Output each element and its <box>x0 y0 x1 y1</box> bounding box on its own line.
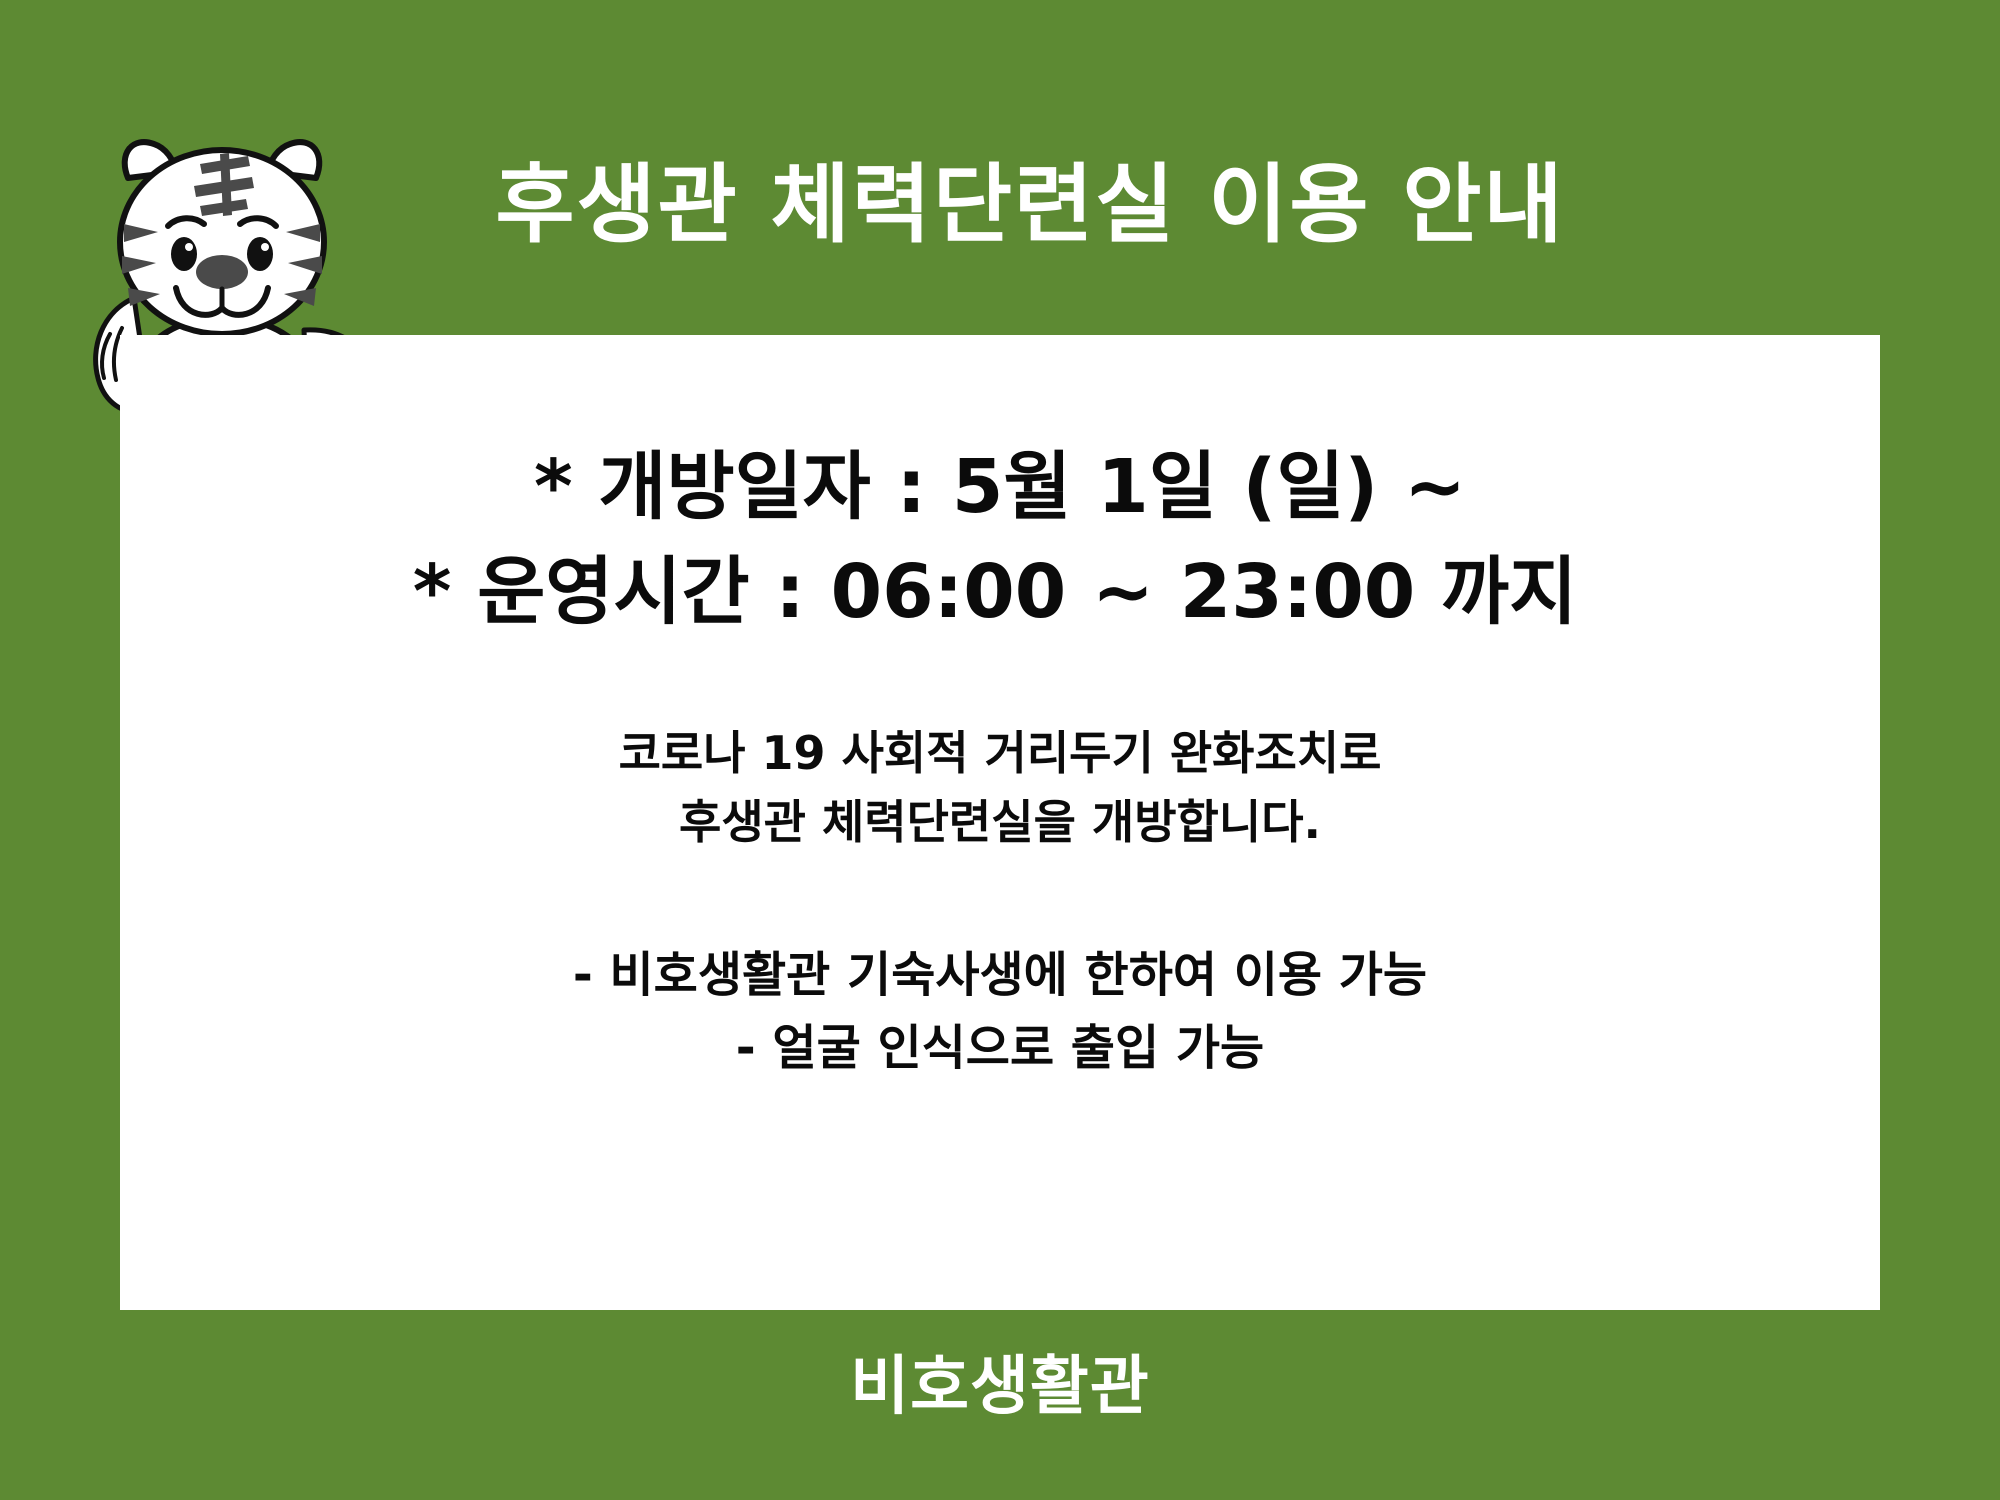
footer: 비호생활관 <box>0 1355 2000 1419</box>
open-date-line: * 개방일자 : 5월 1일 (일) ~ <box>534 435 1466 540</box>
title-row: 후생관 체력단련실 이용 안내 <box>0 150 2000 260</box>
notice-paragraph: 코로나 19 사회적 거리두기 완화조치로 후생관 체력단련실을 개방합니다. <box>619 719 1382 857</box>
notice-paragraph-line-2: 후생관 체력단련실을 개방합니다. <box>619 788 1382 857</box>
bullet-item-eligibility: - 비호생활관 기숙사생에 한하여 이용 가능 <box>573 939 1427 1012</box>
poster-background: 후생관 체력단련실 이용 안내 * 개방일자 : 5월 1일 (일) ~ * 운… <box>0 0 2000 1500</box>
notice-bullets: - 비호생활관 기숙사생에 한하여 이용 가능 - 얼굴 인식으로 출입 가능 <box>573 939 1427 1085</box>
operating-hours-line: * 운영시간 : 06:00 ~ 23:00 까지 <box>413 540 1577 645</box>
content-card: * 개방일자 : 5월 1일 (일) ~ * 운영시간 : 06:00 ~ 23… <box>120 335 1880 1310</box>
bullet-item-face-recognition: - 얼굴 인식으로 출입 가능 <box>573 1012 1427 1085</box>
page-title: 후생관 체력단련실 이용 안내 <box>495 162 1564 248</box>
notice-paragraph-line-1: 코로나 19 사회적 거리두기 완화조치로 <box>619 719 1382 788</box>
footer-organization-name: 비호생활관 <box>0 1355 2000 1419</box>
